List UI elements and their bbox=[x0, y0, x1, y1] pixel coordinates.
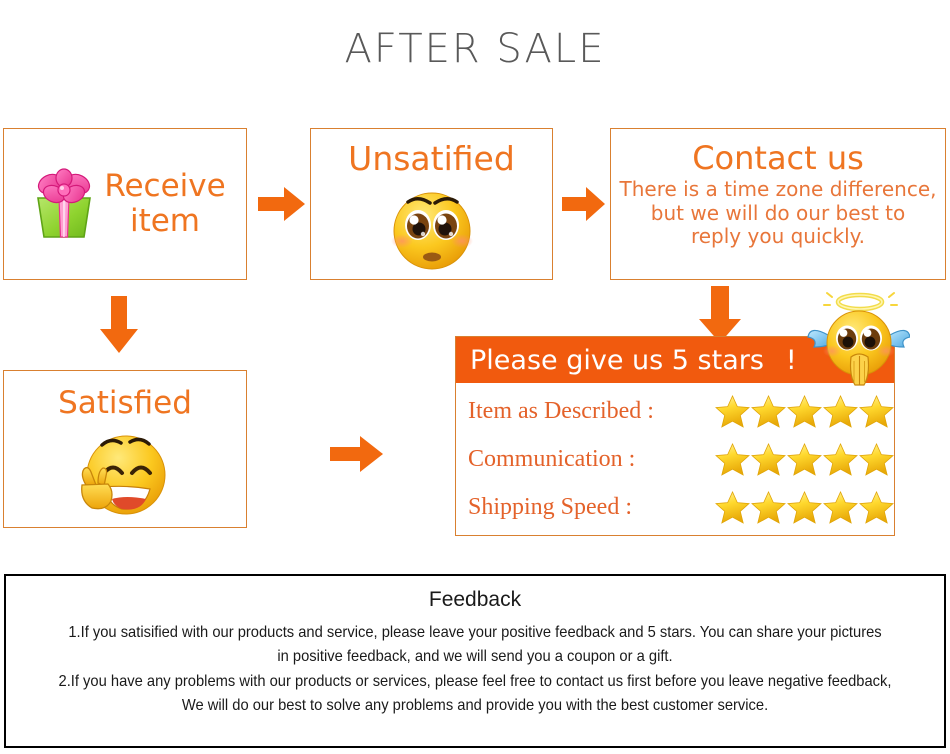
rating-banner-exclamation: ! bbox=[764, 345, 797, 376]
happy-face-peace-sign-emoji bbox=[64, 429, 176, 521]
rating-label-item-as-described: Item as Described : bbox=[468, 398, 715, 425]
arrow-right-icon-satisfied-to-stars bbox=[330, 434, 384, 474]
step-box-contact-us: Contact us There is a time zone differen… bbox=[610, 128, 946, 280]
step-box-satisfied: Satisfied bbox=[3, 370, 247, 528]
unsatisfied-label: Unsatified bbox=[311, 139, 552, 178]
angel-praying-emoji bbox=[806, 287, 910, 391]
star-icon bbox=[787, 490, 822, 524]
feedback-line-2: in positive feedback, and we will send y… bbox=[44, 645, 907, 669]
after-sale-infographic: AFTER SALE bbox=[0, 0, 950, 754]
contact-us-body-line2: but we will do our best to bbox=[611, 202, 945, 226]
gift-box-icon bbox=[30, 168, 98, 240]
feedback-line-1: 1.If you satisified with our products an… bbox=[44, 621, 907, 645]
contact-us-body: There is a time zone difference, but we … bbox=[611, 178, 945, 249]
rating-banner-text: Please give us 5 stars bbox=[456, 345, 764, 376]
rating-request-panel: Please give us 5 stars ! bbox=[455, 336, 895, 536]
contact-us-body-line3: reply you quickly. bbox=[611, 225, 945, 249]
feedback-line-3: 2.If you have any problems with our prod… bbox=[44, 670, 907, 694]
star-icon bbox=[715, 442, 750, 476]
star-rating-item-as-described bbox=[715, 394, 894, 428]
step-box-unsatisfied: Unsatified bbox=[310, 128, 553, 280]
star-icon bbox=[859, 394, 894, 428]
star-icon bbox=[787, 442, 822, 476]
contact-us-title: Contact us bbox=[611, 141, 945, 176]
star-icon bbox=[823, 394, 858, 428]
rating-label-shipping-speed: Shipping Speed : bbox=[468, 494, 715, 521]
page-title: AFTER SALE bbox=[0, 26, 950, 72]
receive-item-label-line1: Receive bbox=[104, 169, 225, 204]
star-icon bbox=[715, 394, 750, 428]
rating-rows: Item as Described : Communication : bbox=[456, 383, 894, 537]
star-icon bbox=[751, 442, 786, 476]
star-icon bbox=[859, 442, 894, 476]
star-icon bbox=[823, 490, 858, 524]
rating-row: Shipping Speed : bbox=[456, 484, 894, 530]
arrow-right-icon-receive-to-unsatisfied bbox=[258, 185, 306, 223]
star-rating-shipping-speed bbox=[715, 490, 894, 524]
receive-item-label-line2: item bbox=[104, 204, 225, 239]
rating-row: Communication : bbox=[456, 436, 894, 482]
star-icon bbox=[751, 394, 786, 428]
rating-row: Item as Described : bbox=[456, 388, 894, 434]
star-icon bbox=[751, 490, 786, 524]
receive-item-label: Receive item bbox=[104, 169, 225, 238]
step-box-receive-item: Receive item bbox=[3, 128, 247, 280]
star-icon bbox=[715, 490, 750, 524]
arrow-down-icon-receive-to-satisfied bbox=[98, 296, 140, 354]
star-icon bbox=[823, 442, 858, 476]
feedback-panel: Feedback 1.If you satisified with our pr… bbox=[4, 574, 946, 748]
arrow-right-icon-unsatisfied-to-contact bbox=[562, 185, 606, 223]
contact-us-body-line1: There is a time zone difference, bbox=[611, 178, 945, 202]
star-rating-communication bbox=[715, 442, 894, 476]
feedback-title: Feedback bbox=[6, 588, 944, 612]
worried-face-emoji bbox=[386, 183, 478, 275]
rating-label-communication: Communication : bbox=[468, 446, 715, 473]
star-icon bbox=[859, 490, 894, 524]
satisfied-label: Satisfied bbox=[4, 385, 246, 421]
feedback-line-4: We will do our best to solve any problem… bbox=[44, 694, 907, 718]
star-icon bbox=[787, 394, 822, 428]
